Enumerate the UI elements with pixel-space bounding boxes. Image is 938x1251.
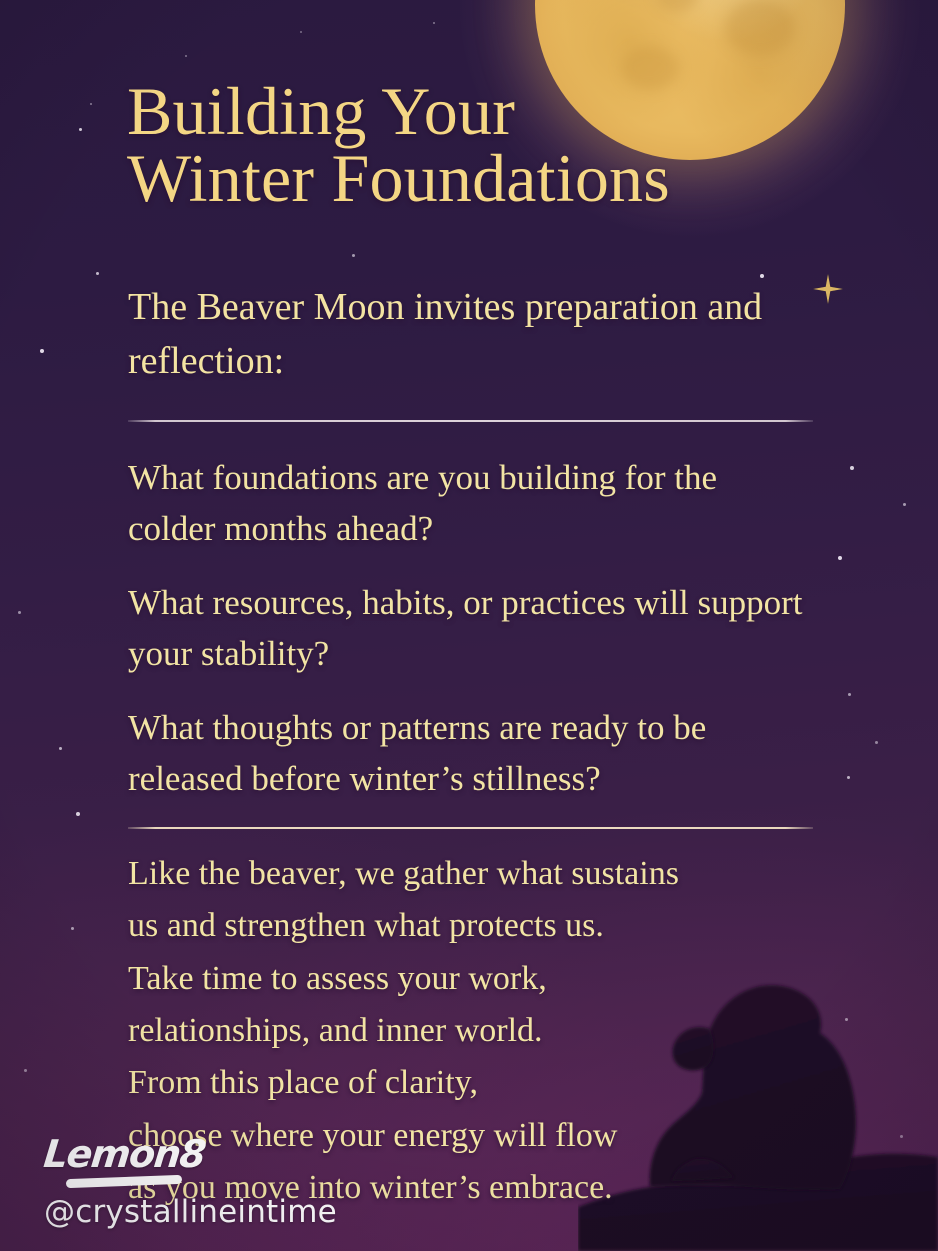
closing-line: as you move into winter’s embrace. (128, 1162, 818, 1214)
star (850, 466, 854, 470)
poster-canvas: Building Your Winter Foundations The Bea… (0, 0, 938, 1251)
star (903, 503, 906, 506)
divider-bottom (128, 827, 813, 829)
star (90, 103, 92, 105)
reflection-prompt: What foundations are you building for th… (128, 452, 808, 555)
star (900, 1135, 903, 1138)
closing-passage: Like the beaver, we gather what sustains… (128, 848, 818, 1215)
page-title: Building Your Winter Foundations (127, 78, 827, 211)
star (838, 556, 842, 560)
star (875, 741, 878, 744)
star (79, 128, 82, 131)
star (848, 693, 851, 696)
star (96, 272, 99, 275)
star (24, 1069, 27, 1072)
star (71, 927, 74, 930)
title-line-2: Winter Foundations (127, 145, 827, 212)
subtitle: The Beaver Moon invites preparation and … (128, 281, 768, 389)
title-line-1: Building Your (127, 78, 827, 145)
star (40, 349, 44, 353)
reflection-prompt-list: What foundations are you building for th… (128, 452, 808, 805)
reflection-prompt: What resources, habits, or practices wil… (128, 577, 808, 680)
closing-line: From this place of clarity, (128, 1057, 818, 1109)
star (18, 611, 21, 614)
star (59, 747, 62, 750)
closing-line: Take time to assess your work, (128, 953, 818, 1005)
closing-line: Like the beaver, we gather what sustains (128, 848, 818, 900)
closing-line: relationships, and inner world. (128, 1005, 818, 1057)
reflection-prompt: What thoughts or patterns are ready to b… (128, 702, 808, 805)
poster-content: Building Your Winter Foundations The Bea… (127, 0, 817, 1251)
closing-line: choose where your energy will flow (128, 1110, 818, 1162)
divider-top (128, 420, 813, 422)
star (845, 1018, 848, 1021)
star (847, 776, 850, 779)
closing-line: us and strengthen what protects us. (128, 900, 818, 952)
star (76, 812, 80, 816)
